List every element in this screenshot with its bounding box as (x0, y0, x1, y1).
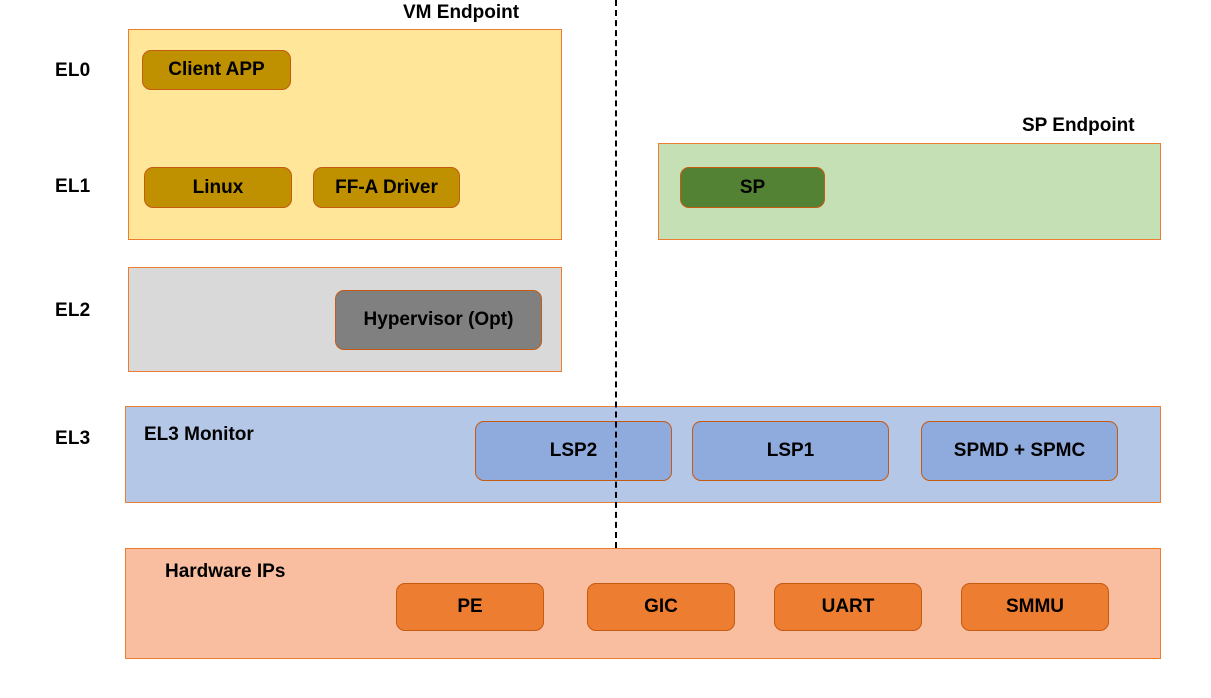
el-label-el1: EL1 (55, 176, 90, 198)
vm-endpoint-caption: VM Endpoint (403, 2, 519, 24)
chip-smmu[interactable]: SMMU (961, 583, 1109, 631)
el-label-el0: EL0 (55, 60, 90, 82)
hardware-ips-title: Hardware IPs (165, 561, 285, 583)
architecture-diagram: EL0 EL1 EL2 EL3 VM Endpoint SP Endpoint … (0, 0, 1211, 698)
chip-linux[interactable]: Linux (144, 167, 292, 208)
chip-ffa-driver[interactable]: FF-A Driver (313, 167, 460, 208)
chip-sp[interactable]: SP (680, 167, 825, 208)
secure-world-divider (615, 0, 617, 548)
chip-pe[interactable]: PE (396, 583, 544, 631)
chip-lsp1[interactable]: LSP1 (692, 421, 889, 481)
chip-lsp2[interactable]: LSP2 (475, 421, 672, 481)
el-label-el3: EL3 (55, 428, 90, 450)
el-label-el2: EL2 (55, 300, 90, 322)
chip-hypervisor[interactable]: Hypervisor (Opt) (335, 290, 542, 350)
chip-uart[interactable]: UART (774, 583, 922, 631)
el3-monitor-title: EL3 Monitor (144, 424, 254, 446)
chip-gic[interactable]: GIC (587, 583, 735, 631)
chip-spmd-spmc[interactable]: SPMD + SPMC (921, 421, 1118, 481)
sp-endpoint-caption: SP Endpoint (1022, 115, 1135, 137)
chip-client-app[interactable]: Client APP (142, 50, 291, 90)
